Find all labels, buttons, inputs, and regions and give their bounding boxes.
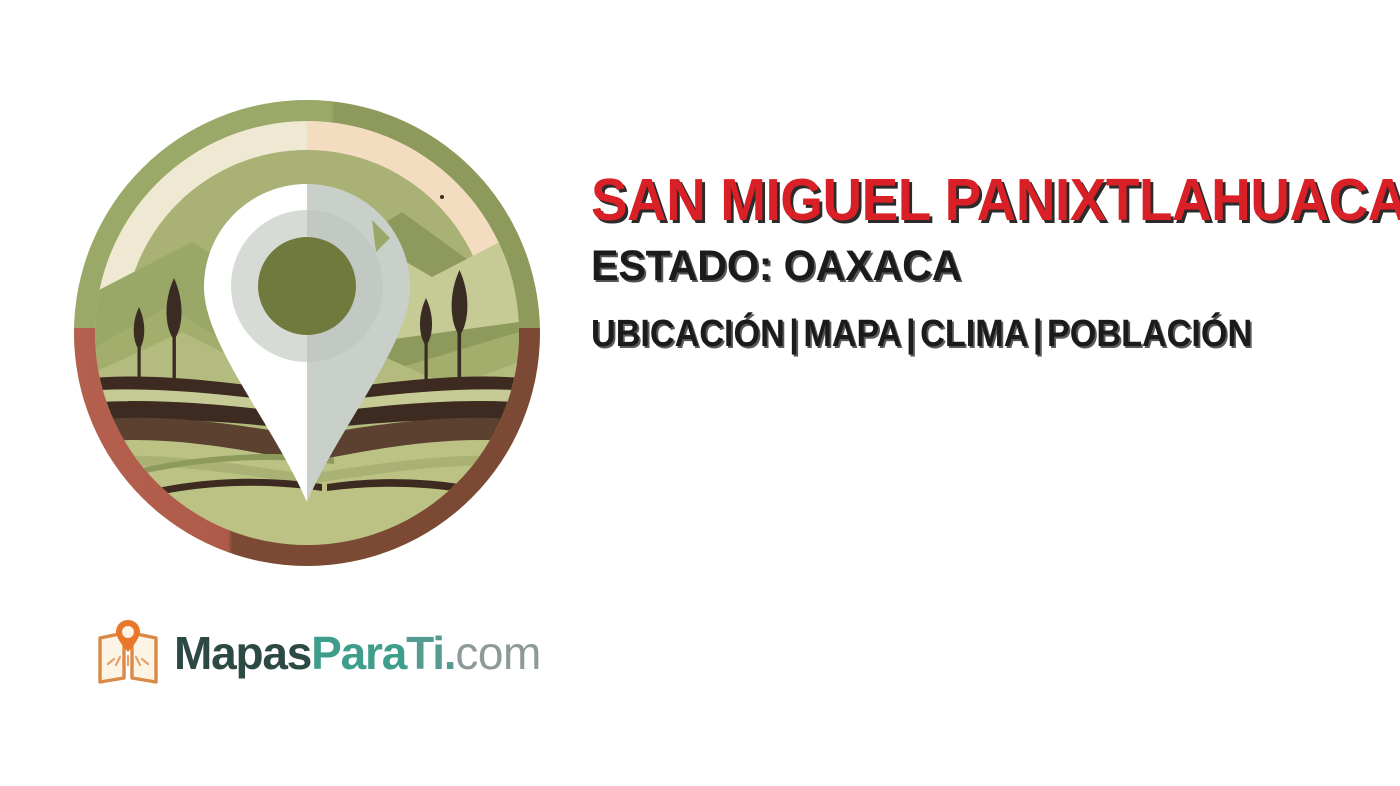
- brand-part-ti: Ti.: [406, 627, 455, 679]
- open-book-map-pin-icon: [96, 618, 160, 688]
- nav-separator: |: [785, 313, 804, 355]
- nav-item-poblacion[interactable]: POBLACIÓN: [1047, 313, 1252, 355]
- page-title: SAN MIGUEL PANIXTLAHUACA: [591, 170, 1363, 232]
- nav-item-mapa[interactable]: MAPA: [803, 313, 901, 355]
- brand-part-para: Para: [311, 627, 406, 679]
- pin-hole: [258, 237, 356, 335]
- emblem-scene: [72, 92, 542, 574]
- emblem-container: [72, 92, 542, 574]
- nav-separator: |: [1028, 313, 1047, 355]
- circular-landscape-map-pin-emblem: [72, 92, 542, 574]
- page-root: MapasParaTi.com SAN MIGUEL PANIXTLAHUACA…: [0, 0, 1400, 786]
- brand-wordmark: MapasParaTi.com: [174, 630, 541, 676]
- brand-part-com: com: [455, 627, 540, 679]
- speck-artifact: [440, 195, 444, 199]
- brand-part-mapas: Mapas: [174, 627, 311, 679]
- header-text-block: SAN MIGUEL PANIXTLAHUACA ESTADO: OAXACA …: [591, 170, 1400, 355]
- nav-separator: |: [902, 313, 921, 355]
- nav-item-clima[interactable]: CLIMA: [920, 313, 1028, 355]
- brand-logo[interactable]: MapasParaTi.com: [96, 618, 541, 688]
- nav-item-ubicacion[interactable]: UBICACIÓN: [591, 313, 785, 355]
- nav-links: UBICACIÓN|MAPA|CLIMA|POBLACIÓN: [591, 315, 1338, 355]
- state-label: ESTADO: OAXACA: [591, 244, 1388, 289]
